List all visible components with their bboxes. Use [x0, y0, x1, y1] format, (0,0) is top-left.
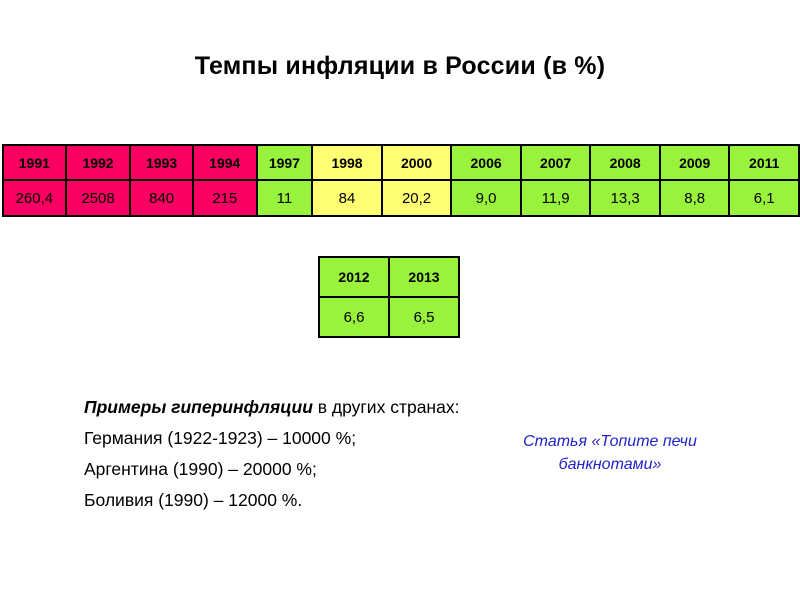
- value-cell-1994: 215: [193, 180, 257, 216]
- value-cell-2008: 13,3: [590, 180, 660, 216]
- value-cell-2007: 11,9: [521, 180, 591, 216]
- value-cell-1992: 2508: [66, 180, 131, 216]
- value-cell-1993: 840: [130, 180, 193, 216]
- value-cell-1997: 11: [257, 180, 313, 216]
- notes-heading-rest: в других странах:: [313, 397, 460, 417]
- note-line-bolivia: Боливия (1990) – 12000 %.: [84, 485, 514, 516]
- main-inflation-table: 1991 1992 1993 1994 1997 1998 2000 2006 …: [2, 144, 800, 217]
- article-link-line-2: банкнотами»: [470, 453, 750, 476]
- notes-heading: Примеры гиперинфляции в других странах:: [84, 392, 514, 423]
- table-row-years: 2012 2013: [319, 257, 459, 297]
- value-cell-2009: 8,8: [660, 180, 730, 216]
- value-cell-2011: 6,1: [729, 180, 799, 216]
- article-link[interactable]: Статья «Топите печи банкнотами»: [470, 430, 750, 476]
- hyperinflation-notes: Примеры гиперинфляции в других странах: …: [84, 392, 514, 516]
- value-cell-2012: 6,6: [319, 297, 389, 337]
- year-cell-1998: 1998: [312, 145, 382, 180]
- table-row-years: 1991 1992 1993 1994 1997 1998 2000 2006 …: [3, 145, 799, 180]
- value-cell-2000: 20,2: [382, 180, 452, 216]
- value-cell-2013: 6,5: [389, 297, 459, 337]
- value-cell-1991: 260,4: [3, 180, 66, 216]
- year-cell-1994: 1994: [193, 145, 257, 180]
- table-row-values: 260,4 2508 840 215 11 84 20,2 9,0 11,9 1…: [3, 180, 799, 216]
- page-title: Темпы инфляции в России (в %): [0, 52, 800, 81]
- year-cell-2013: 2013: [389, 257, 459, 297]
- year-cell-2011: 2011: [729, 145, 799, 180]
- year-cell-2009: 2009: [660, 145, 730, 180]
- year-cell-2000: 2000: [382, 145, 452, 180]
- value-cell-2006: 9,0: [451, 180, 521, 216]
- year-cell-2008: 2008: [590, 145, 660, 180]
- year-cell-2006: 2006: [451, 145, 521, 180]
- table-row-values: 6,6 6,5: [319, 297, 459, 337]
- note-line-argentina: Аргентина (1990) – 20000 %;: [84, 454, 514, 485]
- secondary-inflation-table: 2012 2013 6,6 6,5: [318, 256, 460, 338]
- year-cell-1997: 1997: [257, 145, 313, 180]
- year-cell-2012: 2012: [319, 257, 389, 297]
- year-cell-2007: 2007: [521, 145, 591, 180]
- notes-heading-strong: Примеры гиперинфляции: [84, 397, 313, 417]
- value-cell-1998: 84: [312, 180, 382, 216]
- article-link-line-1: Статья «Топите печи: [470, 430, 750, 453]
- note-line-germany: Германия (1922-1923) – 10000 %;: [84, 423, 514, 454]
- year-cell-1993: 1993: [130, 145, 193, 180]
- year-cell-1992: 1992: [66, 145, 131, 180]
- year-cell-1991: 1991: [3, 145, 66, 180]
